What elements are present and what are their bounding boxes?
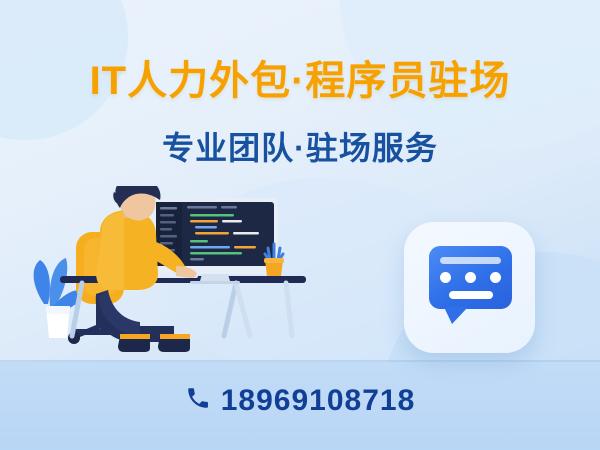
chat-bubble-tail — [444, 307, 468, 324]
promo-banner: IT人力外包·程序员驻场 专业团队·驻场服务 — [0, 0, 600, 450]
message-bar-top — [440, 257, 501, 264]
typing-dot — [465, 272, 476, 283]
desk-cactus-icon — [264, 244, 284, 276]
typing-dots — [440, 272, 501, 283]
illustration-programmer-at-desk — [24, 186, 324, 376]
typing-dot — [490, 272, 501, 283]
subtitle-text: 专业团队·驻场服务 — [0, 131, 600, 166]
phone-handset-icon — [185, 385, 211, 416]
chat-message-card — [404, 222, 535, 353]
chat-bubble-icon — [429, 246, 512, 309]
message-bar-bottom — [449, 291, 493, 299]
headline-title: IT人力外包·程序员驻场 — [0, 60, 600, 102]
typing-dot — [440, 272, 451, 283]
monitor-with-code-icon — [152, 198, 278, 284]
contact-phone-line[interactable]: 18969108718 — [0, 385, 600, 416]
phone-number-text: 18969108718 — [221, 386, 416, 416]
